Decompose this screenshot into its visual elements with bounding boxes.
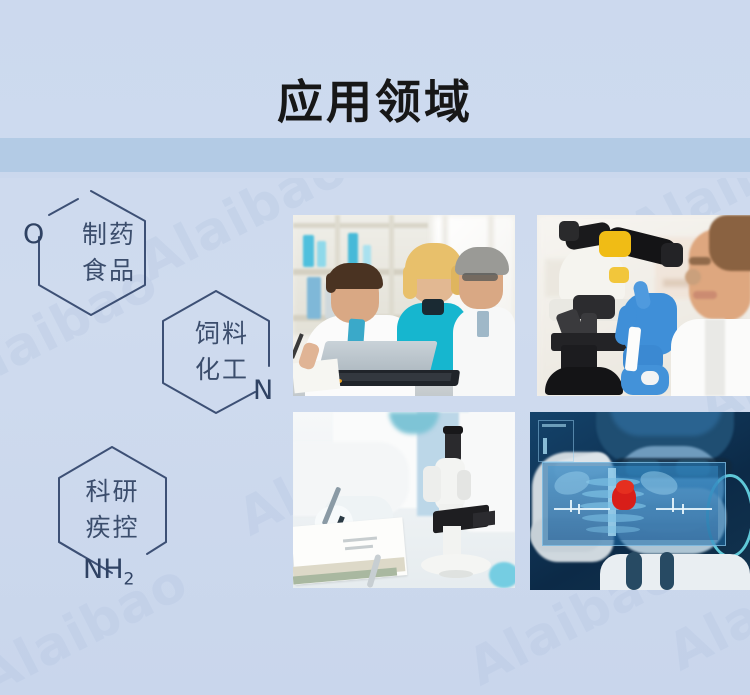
atom-n-label: N [253,375,273,406]
atom-nh2-subscript: 2 [124,569,135,589]
hex-pharma-food: 制药 食品 [33,188,149,318]
header-accent-band-shadow [0,172,750,178]
photo-microscope-pipette [537,215,750,396]
page-title: 应用领域 [0,76,750,128]
photo-lab-team-laptop [293,215,515,396]
atom-nh2-label: NH2 [83,554,134,589]
atom-nh2-base: NH [83,554,124,585]
application-fields-banner: Alaibao Alaibao Alaibao Alaibao Alaibao … [0,0,750,695]
banner-header: 应用领域 [0,0,750,138]
photo-notes-microscope [293,412,515,588]
atom-o-label: O [23,219,44,250]
header-accent-band [0,138,750,172]
photo-xray-hologram [530,412,750,590]
